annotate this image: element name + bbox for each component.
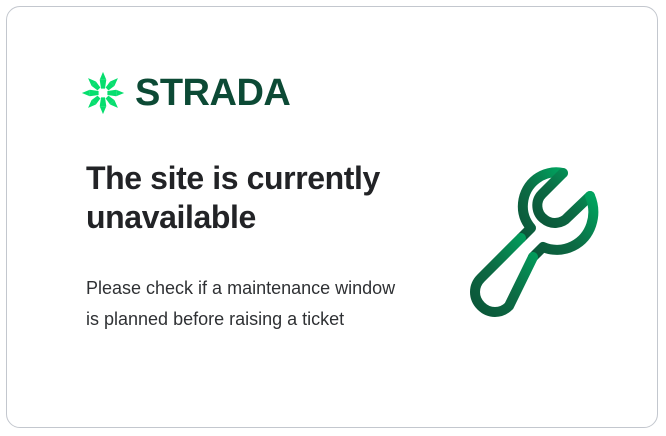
wrench-icon	[459, 155, 625, 321]
page-title: The site is currently unavailable	[86, 159, 416, 237]
maintenance-card: STRADA The site is currently unavailable…	[6, 6, 658, 428]
maintenance-description: Please check if a maintenance window is …	[86, 273, 406, 335]
brand-lockup: STRADA	[81, 71, 290, 115]
strada-asterisk-icon	[81, 71, 125, 115]
brand-wordmark: STRADA	[135, 74, 290, 112]
